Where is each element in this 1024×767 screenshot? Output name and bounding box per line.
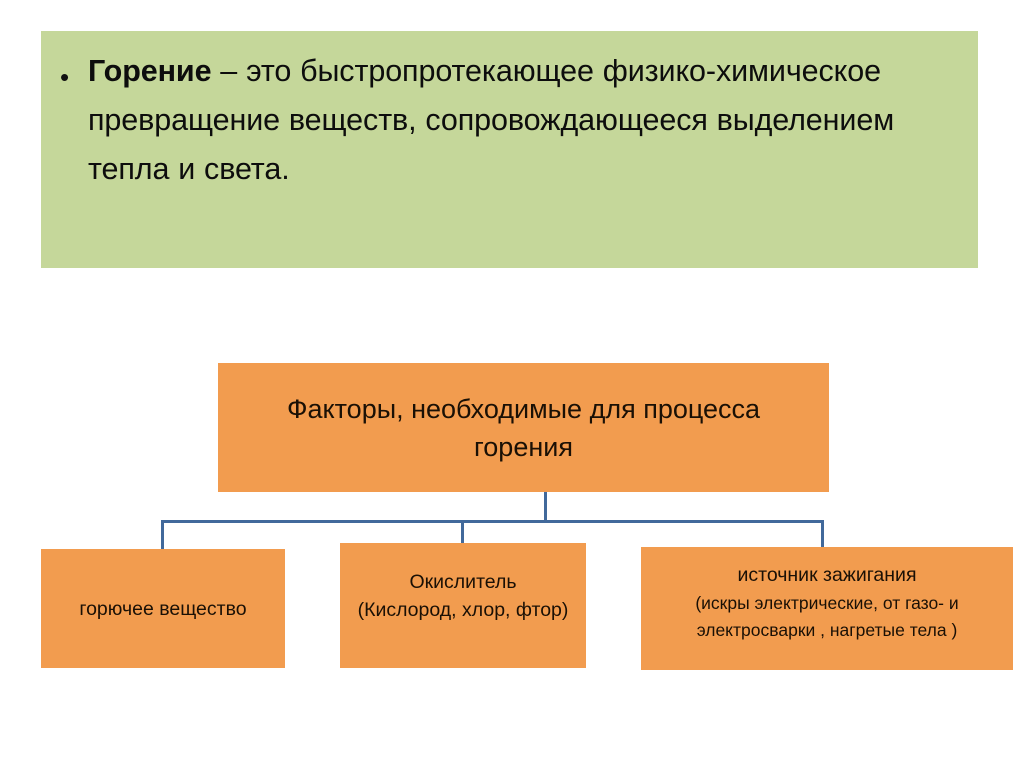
definition-paragraph: Горение – это быстропротекающее физико-х… [88, 47, 968, 194]
diagram-child-text-ignition: источник зажигания (искры электрические,… [641, 560, 1013, 644]
diagram-child-text-oxidizer: Окислитель (Кислород, хлор, фтор) [352, 568, 575, 624]
diagram-child-detail-oxidizer: (Кислород, хлор, фтор) [358, 596, 569, 624]
diagram-root-node: Факторы, необходимые для процесса горени… [218, 363, 829, 492]
connector-drop-child-1 [161, 520, 164, 550]
diagram-child-node-ignition: источник зажигания (искры электрические,… [641, 547, 1013, 670]
bullet-icon: • [60, 47, 88, 90]
connector-horizontal-bar [161, 520, 824, 523]
definition-term: Горение [88, 54, 211, 88]
diagram-child-label-oxidizer: Окислитель [358, 568, 569, 596]
connector-drop-child-3 [821, 520, 824, 548]
diagram-child-label-fuel: горючее вещество [71, 596, 254, 622]
definition-callout: • Горение – это быстропротекающее физико… [41, 31, 978, 268]
connector-drop-child-2 [461, 520, 464, 544]
diagram-root-label: Факторы, необходимые для процесса горени… [218, 390, 829, 466]
diagram-child-label-ignition: источник зажигания [641, 560, 1013, 590]
diagram-child-node-fuel: горючее вещество [41, 549, 285, 668]
slide-canvas: • Горение – это быстропротекающее физико… [0, 0, 1024, 767]
diagram-child-detail-ignition: (искры электрические, от газо- и электро… [641, 590, 1013, 644]
definition-content: • Горение – это быстропротекающее физико… [60, 47, 968, 194]
connector-stem [544, 492, 547, 523]
diagram-child-node-oxidizer: Окислитель (Кислород, хлор, фтор) [340, 543, 586, 668]
definition-dash: – [211, 54, 246, 88]
